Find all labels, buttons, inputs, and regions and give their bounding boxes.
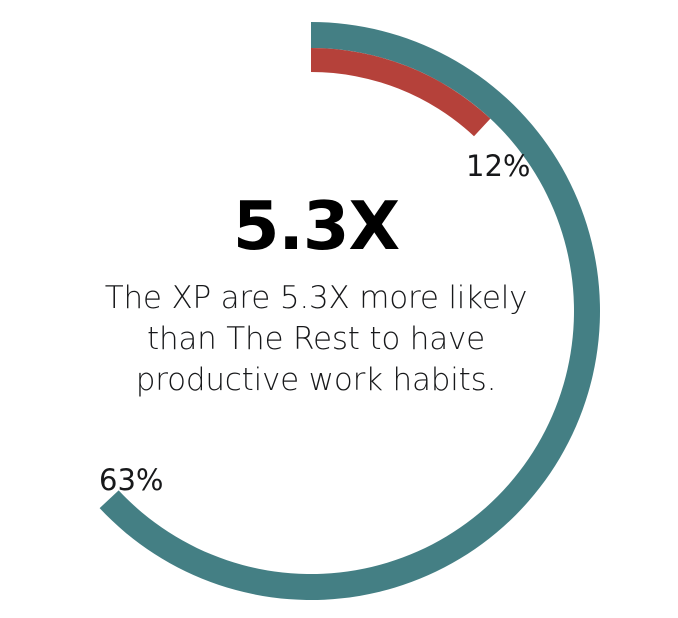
percent-label-outer: 63% [99, 466, 163, 495]
infographic-canvas: 12% 63% 5.3X The XP are 5.3X more likely… [0, 0, 678, 618]
body-line-1: The XP are 5.3X more likely [60, 278, 572, 319]
body-copy: The XP are 5.3X more likely than The Res… [60, 278, 572, 402]
body-line-2: than The Rest to have [60, 319, 572, 360]
percent-label-inner: 12% [466, 152, 530, 181]
body-line-3: productive work habits. [60, 360, 572, 401]
headline-multiplier: 5.3X [60, 192, 572, 262]
center-text-block: 5.3X The XP are 5.3X more likely than Th… [60, 192, 572, 401]
